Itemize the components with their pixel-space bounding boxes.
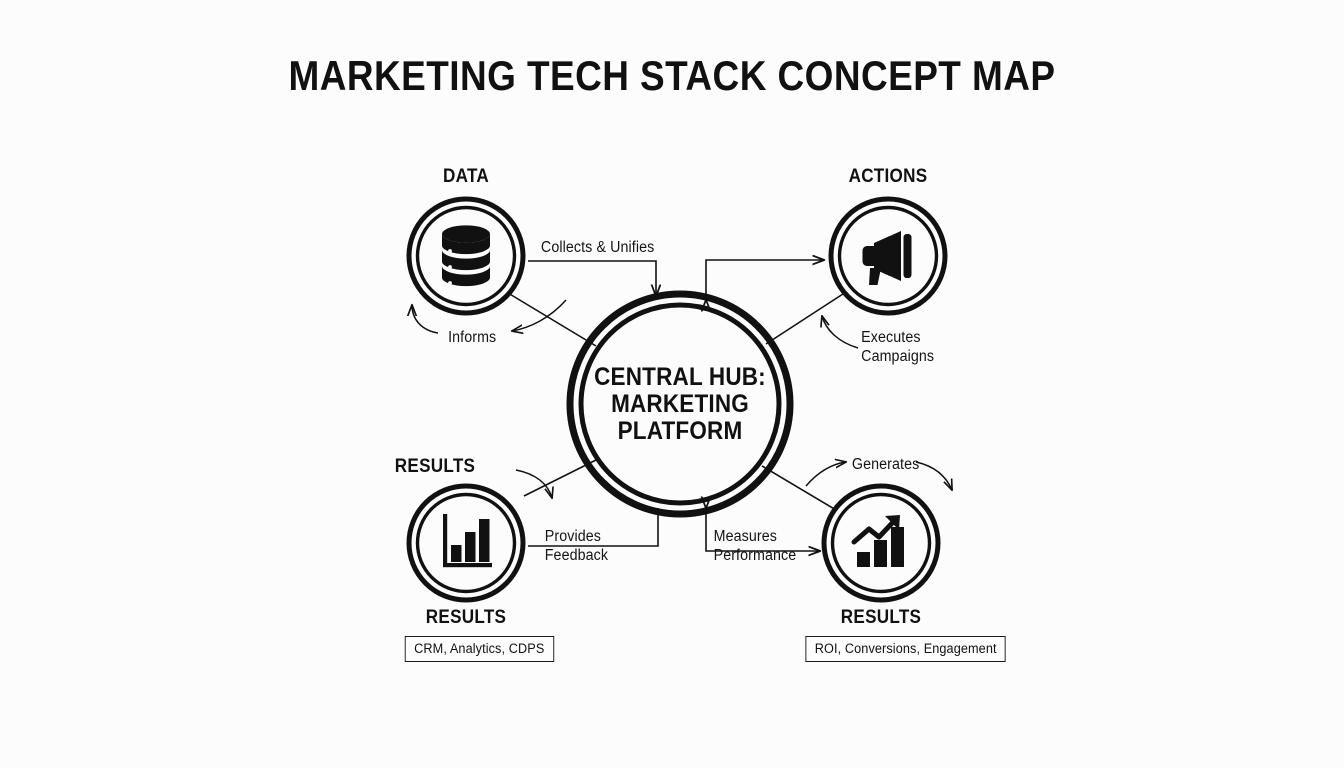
hub-label-line3: PLATFORM bbox=[563, 418, 797, 445]
edge-arrow-generates-left bbox=[806, 462, 846, 486]
edge-arrow-informs-left bbox=[412, 305, 438, 333]
edge-label-generates: Generates bbox=[852, 455, 919, 474]
edge-label-measures-performance-line2: Performance bbox=[714, 546, 797, 565]
edge-label-measures-performance-line1: Measures bbox=[714, 527, 797, 546]
concept-map-canvas: MARKETING TECH STACK CONCEPT MAP bbox=[0, 0, 1344, 768]
edge-arrow-executes-campaigns bbox=[822, 316, 858, 348]
edge-label-provides-feedback-line2: Feedback bbox=[545, 546, 608, 565]
edge-label-executes-campaigns-line1: Executes bbox=[861, 328, 934, 347]
node-title-results-left-above: RESULTS bbox=[377, 456, 494, 478]
node-title-data: DATA bbox=[412, 166, 520, 188]
edge-label-provides-feedback-line1: Provides bbox=[545, 527, 608, 546]
edge-label-provides-feedback: Provides Feedback bbox=[545, 527, 608, 565]
edge-arrow-hub-to-actions-elbow bbox=[706, 260, 824, 300]
node-title-actions: ACTIONS bbox=[834, 166, 942, 188]
hub-label: CENTRAL HUB: MARKETING PLATFORM bbox=[563, 364, 797, 445]
edge-arrow-generates-right bbox=[916, 462, 952, 490]
edge-label-executes-campaigns: Executes Campaigns bbox=[861, 328, 934, 366]
node-title-results-left-below: RESULTS bbox=[412, 607, 520, 629]
edge-line-data-hub bbox=[508, 293, 596, 346]
edge-label-collects-unifies: Collects & Unifies bbox=[541, 238, 654, 257]
node-title-results-right-below: RESULTS bbox=[827, 607, 935, 629]
edge-label-executes-campaigns-line2: Campaigns bbox=[861, 347, 934, 366]
tag-box-results-right: ROI, Conversions, Engagement bbox=[805, 636, 1006, 662]
hub-label-line2: MARKETING bbox=[563, 391, 797, 418]
edge-arrow-informs-right bbox=[512, 300, 566, 331]
tag-box-results-left: CRM, Analytics, CDPS bbox=[405, 636, 554, 662]
edge-line-hub-results-right bbox=[762, 466, 836, 510]
hub-label-line1: CENTRAL HUB: bbox=[563, 364, 797, 391]
edge-arrow-collects-unifies bbox=[528, 261, 656, 296]
edge-label-informs: Informs bbox=[448, 328, 496, 347]
edge-label-measures-performance: Measures Performance bbox=[714, 527, 797, 565]
node-circle-data[interactable] bbox=[409, 199, 523, 313]
